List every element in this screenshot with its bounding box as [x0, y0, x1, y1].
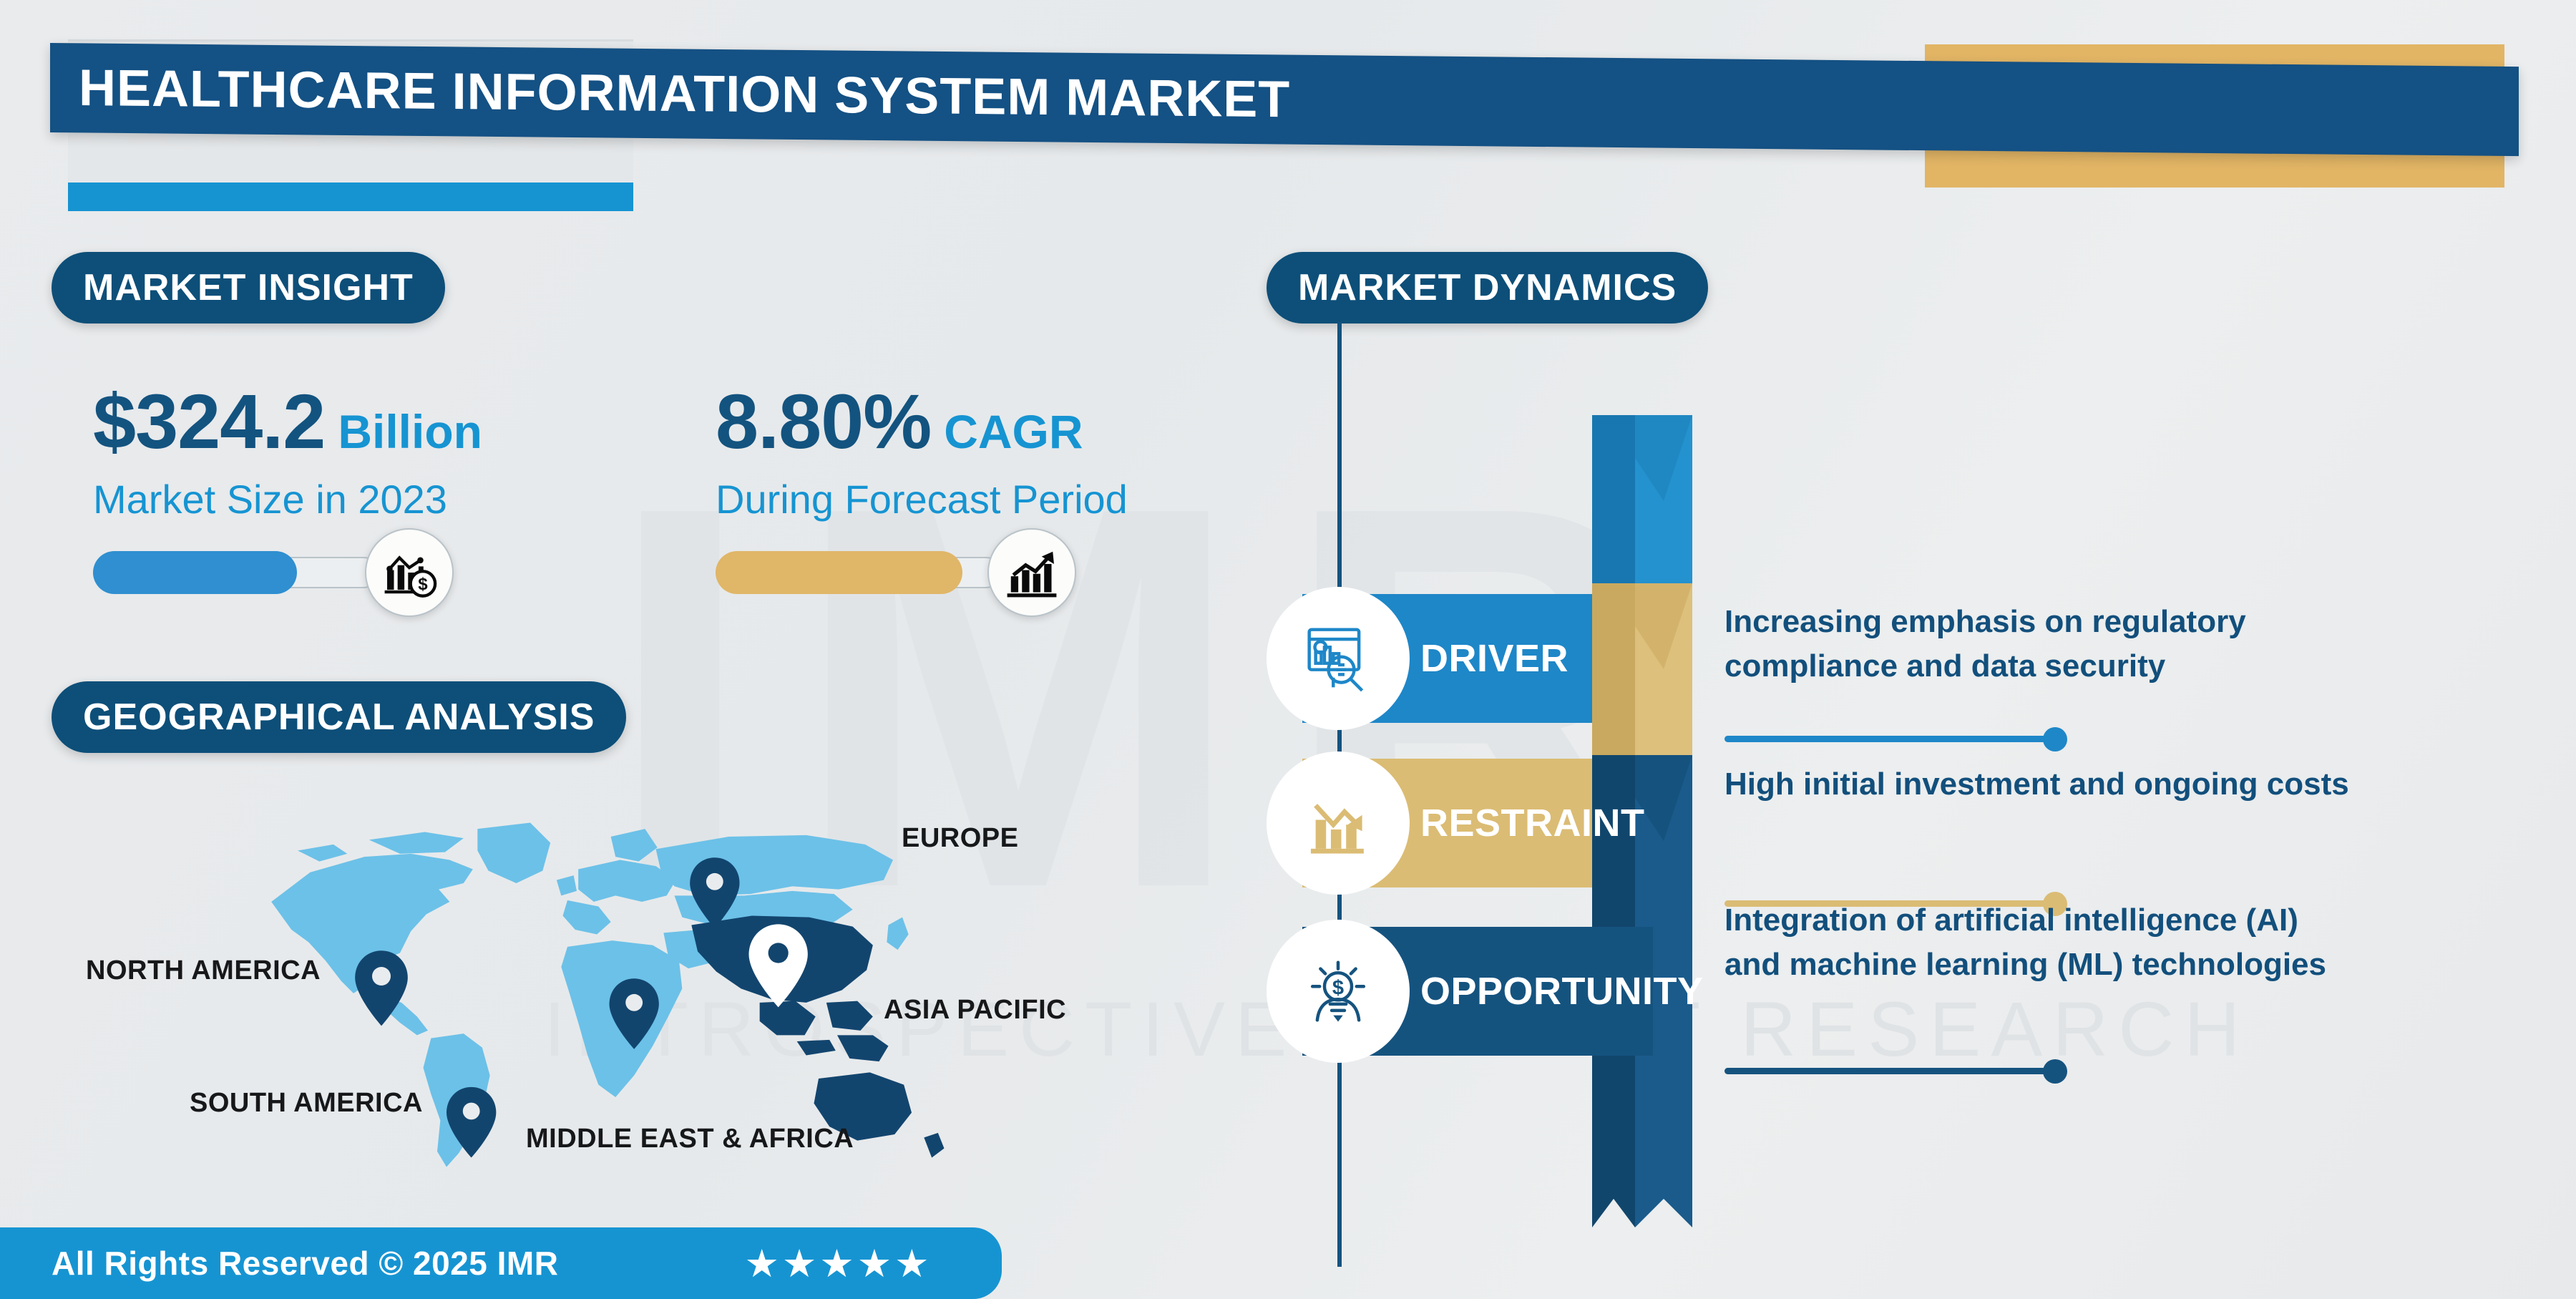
dynamics-description-restraint: High initial investment and ongoing cost…: [1724, 762, 2354, 807]
map-label-middle-east-africa: MIDDLE EAST & AFRICA: [526, 1124, 854, 1154]
declining-chart-icon: [1267, 751, 1410, 895]
dynamics-endpoint-opportunity: [2043, 1059, 2067, 1084]
dynamics-connector-driver: [1724, 736, 2054, 742]
analytics-search-icon: [1267, 587, 1410, 730]
svg-text:$: $: [418, 575, 428, 594]
map-label-south-america: SOUTH AMERICA: [190, 1088, 423, 1119]
stat-cagr: 8.80%CAGR During Forecast Period: [716, 383, 1128, 522]
badge-geographical-analysis: GEOGRAPHICAL ANALYSIS: [52, 681, 626, 753]
cagr-progress: [716, 551, 1088, 594]
dynamics-description-driver: Increasing emphasis on regulatory compli…: [1724, 600, 2354, 689]
infographic-canvas: IMR INTROSPECTIVE MARKET RESEARCH HEALTH…: [0, 0, 2576, 1299]
market-dynamics-timeline: DRIVER Increasing emphasis on regulatory…: [1267, 315, 2555, 1267]
copyright-text: All Rights Reserved © 2025 IMR: [52, 1244, 558, 1283]
lightbulb-dollar-icon: $: [1267, 920, 1410, 1063]
cagr-caption: During Forecast Period: [716, 476, 1128, 522]
dynamics-label-driver: DRIVER: [1420, 594, 1568, 723]
dynamics-label-opportunity: OPPORTUNITY: [1420, 927, 1704, 1056]
footer-bar: All Rights Reserved © 2025 IMR ★★★★★: [0, 1227, 1002, 1299]
star-rating-icon: ★★★★★: [744, 1241, 932, 1286]
bar-chart-dollar-icon: $: [365, 528, 454, 617]
dynamics-description-opportunity: Integration of artificial intelligence (…: [1724, 898, 2354, 988]
map-label-north-america: NORTH AMERICA: [86, 955, 321, 986]
progress-fill: [93, 551, 297, 594]
svg-text:$: $: [1332, 976, 1344, 999]
dynamics-endpoint-driver: [2043, 727, 2067, 751]
map-label-europe: EUROPE: [902, 823, 1018, 854]
market-size-unit: Billion: [338, 404, 482, 459]
market-size-progress: $: [93, 551, 465, 594]
cagr-value: 8.80%: [716, 383, 931, 460]
dynamics-label-restraint: RESTRAINT: [1420, 759, 1645, 887]
market-size-caption: Market Size in 2023: [93, 476, 482, 522]
stat-market-size: $324.2Billion Market Size in 2023: [93, 383, 482, 522]
cagr-unit: CAGR: [944, 404, 1083, 459]
badge-market-dynamics: MARKET DYNAMICS: [1267, 252, 1708, 323]
header-cyan-accent: [68, 183, 633, 211]
market-size-value: $324.2: [93, 383, 325, 460]
progress-fill: [716, 551, 962, 594]
dynamics-connector-opportunity: [1724, 1068, 2054, 1074]
growth-arrow-icon: [987, 528, 1076, 617]
badge-market-insight: MARKET INSIGHT: [52, 252, 445, 323]
map-label-asia-pacific: ASIA PACIFIC: [884, 995, 1066, 1026]
